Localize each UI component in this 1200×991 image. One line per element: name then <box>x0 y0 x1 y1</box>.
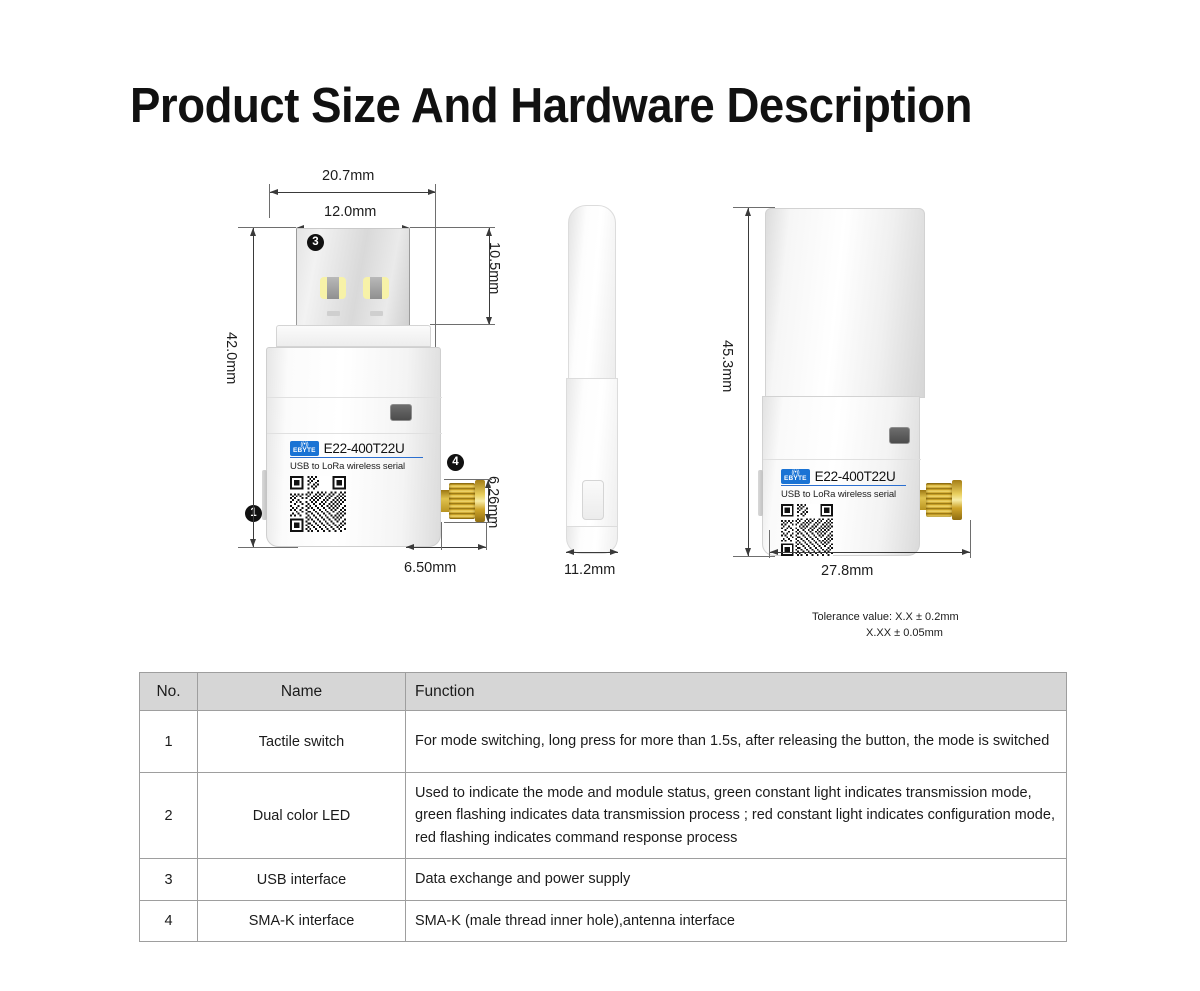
table-row: 2 Dual color LED Used to indicate the mo… <box>140 773 1067 859</box>
ext-line <box>238 547 298 548</box>
led-indicator-window <box>390 404 412 421</box>
dim-right-height: 45.3mm <box>719 340 735 392</box>
table-header-row: No. Name Function <box>140 673 1067 711</box>
dim-line-outer <box>270 192 436 193</box>
usb-contact-pin <box>320 277 346 299</box>
right-view-body: ((•)) EBYTE E22-400T22U USB to LoRa wire… <box>762 396 920 556</box>
table-row: 4 SMA-K interface SMA-K (male thread inn… <box>140 900 1067 941</box>
product-label: ((•)) EBYTE E22-400T22U USB to LoRa wire… <box>781 469 906 561</box>
dimension-drawings: 20.7mm 12.0mm 3 10.5mm <box>0 160 1200 650</box>
model-name-wrap: E22-400T22U <box>324 441 405 456</box>
dim-arrow-up <box>485 480 491 488</box>
ext-line <box>733 207 775 208</box>
ext-line <box>769 530 770 558</box>
column-header-name: Name <box>198 673 406 711</box>
cell-name: SMA-K interface <box>198 900 406 941</box>
side-cap <box>568 205 616 380</box>
dim-arrow-down <box>745 548 751 556</box>
label-underline <box>781 485 906 486</box>
label-subtitle: USB to LoRa wireless serial <box>781 489 906 500</box>
ext-line <box>410 227 495 228</box>
cell-no: 2 <box>140 773 198 859</box>
dim-front-height: 42.0mm <box>223 332 239 384</box>
led-indicator-window <box>889 427 910 444</box>
model-name: E22-400T22U <box>815 469 896 484</box>
usb-notch <box>370 311 383 316</box>
dim-usb-width: 12.0mm <box>324 204 376 220</box>
ext-line <box>970 520 971 558</box>
sma-collar <box>475 480 485 522</box>
product-label: ((•)) EBYTE E22-400T22U USB to LoRa wire… <box>290 441 423 537</box>
dim-arrow-up <box>250 228 256 236</box>
table-row: 3 USB interface Data exchange and power … <box>140 859 1067 900</box>
dim-line-front-height <box>253 228 254 547</box>
cell-name: Dual color LED <box>198 773 406 859</box>
model-name: E22-400T22U <box>324 441 405 456</box>
qr-code-icon <box>290 476 423 537</box>
cell-name: USB interface <box>198 859 406 900</box>
brand-row: ((•)) EBYTE E22-400T22U <box>781 469 906 484</box>
dim-arrow-right <box>962 549 970 555</box>
dim-arrow-up <box>486 228 492 236</box>
device-body-front: ((•)) EBYTE E22-400T22U USB to LoRa wire… <box>266 347 441 547</box>
ebyte-logo: ((•)) EBYTE <box>290 441 319 456</box>
ebyte-logo: ((•)) EBYTE <box>781 469 810 484</box>
callout-badge-4: 4 <box>447 454 464 471</box>
ext-line <box>238 227 296 228</box>
dim-right-width: 27.8mm <box>821 563 873 579</box>
dim-line-right-height <box>748 208 749 556</box>
sma-neck <box>441 490 449 512</box>
ext-line <box>444 479 492 480</box>
dim-line-right-width <box>770 552 970 553</box>
dim-line-usb-height <box>489 228 490 325</box>
device-neck <box>276 325 431 347</box>
page-title: Product Size And Hardware Description <box>130 78 972 134</box>
dim-line-sma-len <box>406 547 486 548</box>
dim-side-width: 11.2mm <box>564 562 615 578</box>
label-underline <box>290 457 423 458</box>
dim-arrow-down <box>250 539 256 547</box>
side-tactile-switch <box>582 480 604 520</box>
sma-threaded-barrel <box>449 483 475 519</box>
product-datasheet-page: Product Size And Hardware Description 20… <box>0 0 1200 991</box>
tactile-switch <box>262 470 267 520</box>
ext-line <box>269 184 270 218</box>
dim-arrow-left <box>770 549 778 555</box>
cell-no: 3 <box>140 859 198 900</box>
dim-sma-length: 6.50mm <box>404 560 456 576</box>
right-view-cap <box>765 208 925 398</box>
dim-arrow-right <box>610 549 618 555</box>
cell-name: Tactile switch <box>198 711 406 773</box>
dim-arrow-left <box>406 544 414 550</box>
tactile-switch <box>758 470 763 516</box>
dim-arrow-left <box>270 189 278 195</box>
dim-arrow-right <box>478 544 486 550</box>
usb-notch <box>327 311 340 316</box>
body-seam <box>267 397 442 398</box>
brand-name: EBYTE <box>784 476 807 483</box>
body-seam <box>267 433 442 434</box>
callout-badge-3: 3 <box>307 234 324 251</box>
brand-name: EBYTE <box>293 448 316 455</box>
ext-line <box>486 522 487 550</box>
dim-arrow-left <box>566 549 574 555</box>
body-seam <box>763 459 921 460</box>
cell-function: Data exchange and power supply <box>406 859 1067 900</box>
cell-no: 4 <box>140 900 198 941</box>
usb-contact-pin <box>363 277 389 299</box>
dim-arrow-down <box>485 514 491 522</box>
tolerance-note: Tolerance value: X.X ± 0.2mm X.XX ± 0.05… <box>812 610 959 642</box>
dim-front-width-outer: 20.7mm <box>322 168 374 184</box>
tolerance-line-1: Tolerance value: X.X ± 0.2mm <box>812 610 959 626</box>
label-subtitle: USB to LoRa wireless serial <box>290 461 423 472</box>
sma-k-connector <box>441 478 491 526</box>
ext-line <box>444 522 492 523</box>
sma-threaded-barrel <box>926 483 952 517</box>
tolerance-line-2: X.XX ± 0.05mm <box>812 626 959 642</box>
cell-function: For mode switching, long press for more … <box>406 711 1067 773</box>
cell-function: Used to indicate the mode and module sta… <box>406 773 1067 859</box>
brand-row: ((•)) EBYTE E22-400T22U <box>290 441 423 456</box>
sma-collar <box>952 480 962 520</box>
ext-line <box>441 522 442 550</box>
column-header-no: No. <box>140 673 198 711</box>
cell-no: 1 <box>140 711 198 773</box>
sma-k-connector <box>920 478 970 524</box>
ext-line <box>430 324 495 325</box>
dim-arrow-up <box>745 208 751 216</box>
cell-function: SMA-K (male thread inner hole),antenna i… <box>406 900 1067 941</box>
table-row: 1 Tactile switch For mode switching, lon… <box>140 711 1067 773</box>
column-header-function: Function <box>406 673 1067 711</box>
hardware-description-table: No. Name Function 1 Tactile switch For m… <box>139 672 1067 942</box>
